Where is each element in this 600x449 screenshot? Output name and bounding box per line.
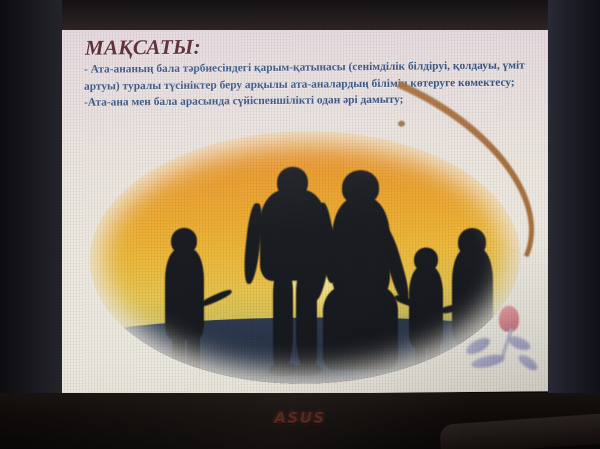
bezel-top — [0, 0, 600, 30]
toddler-body — [409, 266, 443, 347]
lavender-leaf-4-icon — [516, 352, 540, 373]
father-leg-left — [273, 273, 293, 369]
father-foot-left — [269, 364, 297, 377]
toddler-leg-left — [415, 340, 427, 380]
slide-bullet-2: -Ата-ана мен бала арасында сүйіспеншілік… — [84, 90, 542, 111]
child-left-body — [165, 249, 204, 340]
toddler-leg-right — [428, 340, 440, 380]
child-left-leg-left — [172, 329, 185, 380]
lavender-leaf-3-icon — [470, 352, 506, 370]
slide-title: МАҚСАТЫ: — [85, 35, 201, 61]
asus-wordmark-icon: ASUS — [0, 409, 600, 427]
lavender-leaf-1-icon — [464, 334, 493, 357]
child-left-arm — [199, 287, 233, 308]
bezel-right — [548, 0, 600, 449]
rose-sprig-icon — [453, 299, 549, 386]
child-left-leg-right — [187, 329, 200, 380]
swoosh-bud-icon — [398, 121, 405, 127]
bezel-left — [0, 0, 62, 449]
slide-bullet-1: - Ата-ананың бала тәрбиесіндегі қарым-қа… — [84, 57, 542, 94]
monitor-screen: МАҚСАТЫ: - Ата-ананың бала тәрбиесіндегі… — [58, 21, 553, 396]
mother-skirt — [323, 284, 398, 370]
lavender-leaf-2-icon — [506, 333, 532, 353]
monitor-photo: МАҚСАТЫ: - Ата-ананың бала тәрбиесіндегі… — [0, 0, 600, 449]
mother-torso — [332, 196, 390, 297]
slide-body: - Ата-ананың бала тәрбиесіндегі қарым-қа… — [84, 57, 542, 111]
